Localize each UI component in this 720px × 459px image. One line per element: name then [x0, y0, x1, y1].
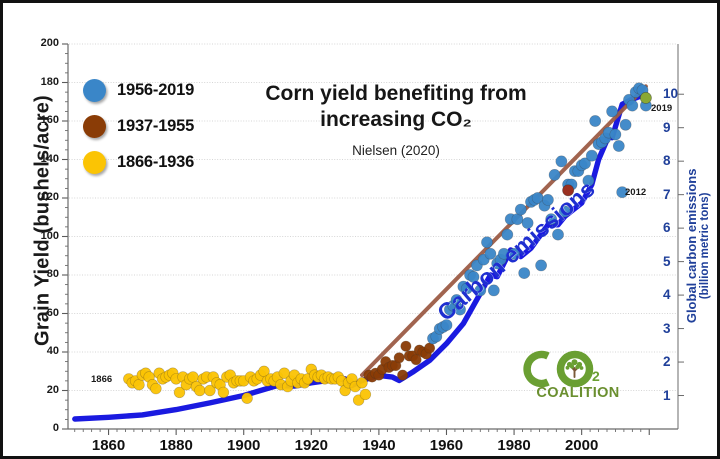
legend-label: 1937-1955 [117, 117, 194, 136]
annotation-1866: 1866 [91, 374, 112, 385]
y2-tick-8: 8 [663, 153, 689, 168]
y-tick-80: 80 [25, 268, 59, 280]
legend-marker-icon [83, 79, 106, 102]
scatter-1866-1936 [123, 364, 370, 406]
svg-text:2: 2 [592, 368, 600, 384]
y2-tick-4: 4 [663, 287, 689, 302]
y-tick-180: 180 [25, 76, 59, 88]
legend-label: 1866-1936 [117, 153, 194, 172]
y-tick-140: 140 [25, 153, 59, 165]
y-tick-100: 100 [25, 230, 59, 242]
y-tick-200: 200 [25, 37, 59, 49]
co2-logo-mark: 2 [514, 349, 642, 389]
co2-coalition-logo: 2 COALITION [514, 349, 642, 411]
chart-figure: Grain Yield (bushels/acre) Global carbon… [0, 0, 720, 459]
y-tick-120: 120 [25, 191, 59, 203]
y2-tick-7: 7 [663, 187, 689, 202]
y2-title-line1: Global carbon emissions [685, 111, 699, 381]
y2-tick-3: 3 [663, 321, 689, 336]
legend-marker-icon [83, 115, 106, 138]
x-tick-2000: 2000 [552, 437, 612, 454]
legend-label: 1956-2019 [117, 81, 194, 100]
x-tick-1960: 1960 [416, 437, 476, 454]
annotation-2012: 2012 [625, 187, 646, 198]
y-axis-minor-ticks [62, 44, 68, 429]
annotation-2019: 2019 [651, 103, 672, 114]
x-tick-1980: 1980 [484, 437, 544, 454]
y2-tick-1: 1 [663, 388, 689, 403]
x-tick-1860: 1860 [79, 437, 139, 454]
y-axis-title-right: Global carbon emissions (billion metric … [685, 111, 711, 381]
x-axis-minor-ticks [75, 429, 649, 435]
legend-marker-icon [83, 151, 106, 174]
legend-item-1866-1936[interactable]: 1866-1936 [83, 147, 194, 177]
x-tick-1900: 1900 [214, 437, 274, 454]
y-tick-160: 160 [25, 114, 59, 126]
y2-title-line2: (billion metric tons) [699, 111, 711, 381]
y-tick-0: 0 [25, 422, 59, 434]
y-tick-20: 20 [25, 384, 59, 396]
chart-title-line1: Corn yield benefiting from [265, 82, 526, 105]
y2-tick-5: 5 [663, 254, 689, 269]
x-tick-1940: 1940 [349, 437, 409, 454]
co2-logo-wordmark: COALITION [514, 385, 642, 401]
chart-subtitle: Nielsen (2020) [231, 143, 561, 158]
y2-tick-6: 6 [663, 220, 689, 235]
legend-item-1937-1955[interactable]: 1937-1955 [83, 111, 194, 141]
y2-tick-10: 10 [663, 86, 689, 101]
chart-legend: 1956-20191937-19551866-1936 [83, 75, 194, 183]
y2-tick-9: 9 [663, 120, 689, 135]
chart-title: Corn yield benefiting from increasing CO… [231, 81, 561, 132]
legend-item-1956-2019[interactable]: 1956-2019 [83, 75, 194, 105]
y-tick-60: 60 [25, 307, 59, 319]
y-tick-40: 40 [25, 345, 59, 357]
chart-title-line2: increasing CO₂ [320, 108, 472, 131]
x-tick-1920: 1920 [281, 437, 341, 454]
x-tick-1880: 1880 [146, 437, 206, 454]
y2-tick-2: 2 [663, 354, 689, 369]
